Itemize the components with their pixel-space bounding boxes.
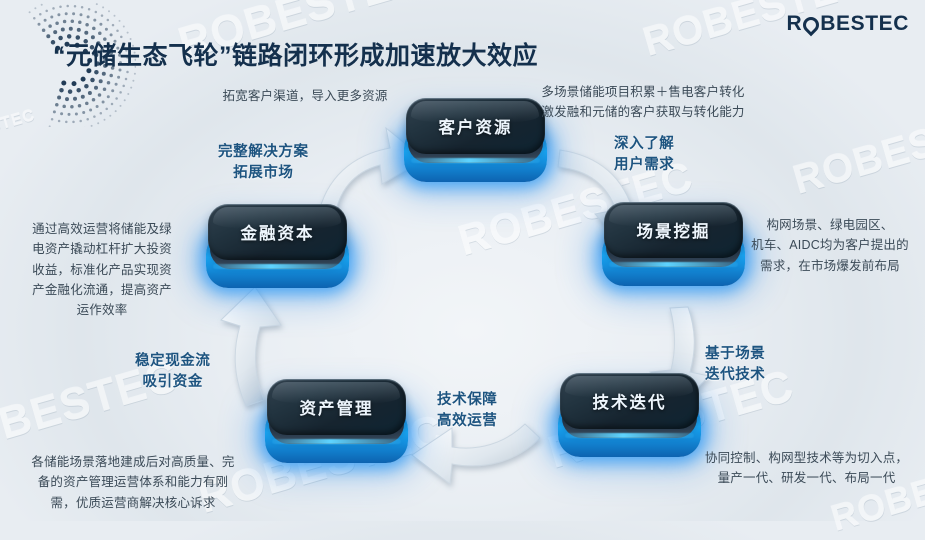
node-top: 资产管理 xyxy=(267,379,406,435)
node-label: 金融资本 xyxy=(241,220,315,244)
annotation-customer-top: 拓宽客户渠道，导入更多资源 xyxy=(170,86,440,106)
arrow-tech-to-asset xyxy=(412,424,540,484)
node-edge-light xyxy=(272,439,401,444)
annotation-capital: 通过高效运营将储能及绿 电资产撬动杠杆扩大投资 收益，标准化产品实现资 产金融化… xyxy=(4,219,200,320)
node-edge-light xyxy=(565,433,694,438)
annotation-scene: 构网场景、绿电园区、 机车、AIDC均为客户提出的 需求，在市场爆发前布局 xyxy=(735,215,925,276)
node-edge-light xyxy=(213,264,342,269)
node-asset-management[interactable]: 资产管理 xyxy=(259,377,414,469)
annotation-customer: 多场景储能项目积累＋售电客户转化 激发融和元储的客户获取与转化能力 xyxy=(493,82,793,123)
node-tech-iteration[interactable]: 技术迭代 xyxy=(552,371,707,463)
node-scene-mining[interactable]: 场景挖掘 xyxy=(596,200,751,292)
node-edge-light xyxy=(411,158,540,163)
node-top: 金融资本 xyxy=(208,204,347,260)
node-label: 客户资源 xyxy=(439,114,513,138)
arrow-label-cashflow: 稳定现金流 吸引资金 xyxy=(135,351,211,393)
node-label: 资产管理 xyxy=(300,395,374,419)
annotation-tech: 协同控制、构网型技术等为切入点， 量产一代、研发一代、布局一代 xyxy=(688,448,925,489)
node-edge-light xyxy=(609,262,738,267)
arrow-label-iterate: 基于场景 迭代技术 xyxy=(705,344,765,386)
node-label: 技术迭代 xyxy=(593,389,667,413)
node-top: 技术迭代 xyxy=(560,373,699,429)
node-top: 场景挖掘 xyxy=(604,202,743,258)
arrow-label-needs: 深入了解 用户需求 xyxy=(614,134,674,176)
annotation-asset: 各储能场景落地建成后对高质量、完 备的资产管理运营体系和能力有刚 需，优质运营商… xyxy=(8,452,258,513)
node-financial-capital[interactable]: 金融资本 xyxy=(200,202,355,294)
arrow-label-solution: 完整解决方案 拓展市场 xyxy=(218,142,309,184)
arrow-label-operation: 技术保障 高效运营 xyxy=(437,390,497,432)
node-label: 场景挖掘 xyxy=(637,218,711,242)
